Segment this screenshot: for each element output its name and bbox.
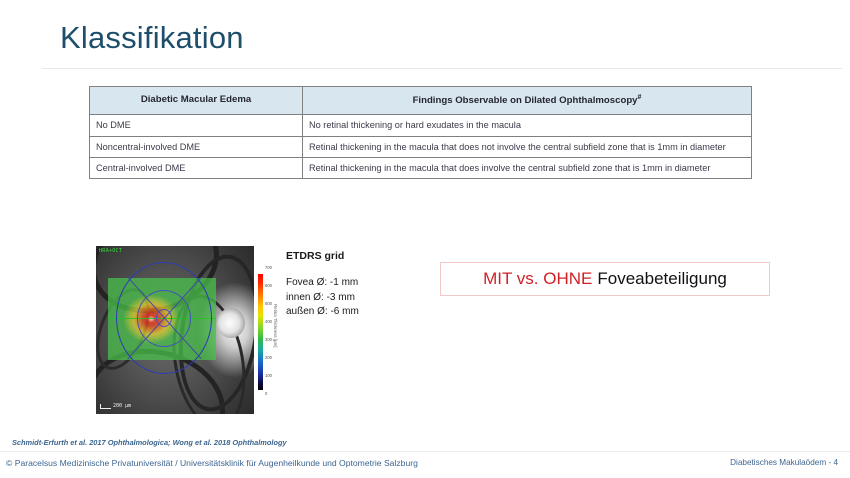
table-body: No DME No retinal thickening or hard exu…: [90, 115, 752, 179]
colorbar-axis-label: Retina Thickness [µm]: [273, 304, 278, 347]
etdrs-grid-overlay: [96, 246, 254, 414]
colorbar-tick: 700: [265, 266, 272, 270]
footer-divider: [0, 451, 850, 452]
cell-category: Central-involved DME: [90, 157, 303, 178]
colorbar-tick: 0: [265, 392, 267, 396]
table-row: Central-involved DME Retinal thickening …: [90, 157, 752, 178]
etdrs-legend-line: innen Ø: -3 mm: [286, 291, 416, 306]
etdrs-legend-title: ETDRS grid: [286, 250, 416, 262]
citation-text: Schmidt-Erfurth et al. 2017 Ophthalmolog…: [12, 438, 287, 447]
callout-rest-text: Foveabeteiligung: [597, 269, 726, 289]
colorbar-tick: 100: [265, 374, 272, 378]
oct-scale-marker: 200 µm: [100, 403, 131, 409]
colorbar-tick: 200: [265, 356, 272, 360]
cell-findings: No retinal thickening or hard exudates i…: [303, 115, 752, 136]
colorbar-tick: 300: [265, 338, 272, 342]
cell-category: No DME: [90, 115, 303, 136]
column-header-findings-text: Findings Observable on Dilated Ophthalmo…: [413, 95, 638, 106]
table-header-row: Diabetic Macular Edema Findings Observab…: [90, 87, 752, 115]
etdrs-legend-line: Fovea Ø: -1 mm: [286, 276, 416, 291]
oct-device-tag: HRA+OCT: [99, 248, 122, 254]
callout-box: MIT vs. OHNE Foveabeteiligung: [440, 262, 770, 296]
colorbar-tick: 600: [265, 284, 272, 288]
classification-table: Diabetic Macular Edema Findings Observab…: [89, 86, 752, 179]
title-divider: [42, 68, 842, 69]
table-row: Noncentral-involved DME Retinal thickeni…: [90, 136, 752, 157]
thickness-colorbar: 700 600 500 400 300 200 100 0 Retina Thi…: [258, 246, 280, 414]
column-header-findings: Findings Observable on Dilated Ophthalmo…: [303, 87, 752, 115]
colorbar-tick: 400: [265, 320, 272, 324]
cell-category: Noncentral-involved DME: [90, 136, 303, 157]
colorbar-tick: 500: [265, 302, 272, 306]
footnote-marker: #: [638, 94, 642, 101]
cell-findings: Retinal thickening in the macula that do…: [303, 136, 752, 157]
etdrs-legend-line: außen Ø: -6 mm: [286, 305, 416, 320]
column-header-category: Diabetic Macular Edema: [90, 87, 303, 115]
colorbar-gradient: [258, 274, 263, 390]
table-row: No DME No retinal thickening or hard exu…: [90, 115, 752, 136]
etdrs-legend: ETDRS grid Fovea Ø: -1 mm innen Ø: -3 mm…: [286, 250, 416, 320]
cell-findings: Retinal thickening in the macula that do…: [303, 157, 752, 178]
copyright-text: © Paracelsus Medizinische Privatuniversi…: [6, 458, 418, 468]
slide-page-label: Diabetisches Makulaödem - 4: [730, 458, 838, 467]
oct-thickness-map-image: HRA+OCT 200 µm: [96, 246, 254, 414]
callout-highlight-text: MIT vs. OHNE: [483, 269, 592, 289]
page-title: Klassifikation: [60, 20, 244, 56]
